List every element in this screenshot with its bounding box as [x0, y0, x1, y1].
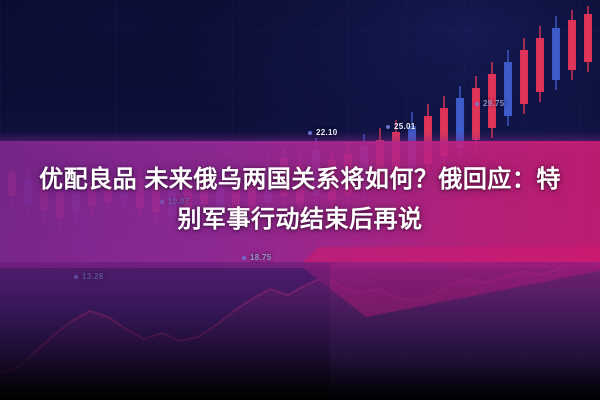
- headline-line-1: 优配良品 未来俄乌两国关系将如何？俄回应：特: [14, 160, 586, 200]
- headline-line-2: 别军事行动结束后再说: [14, 200, 586, 240]
- candle-body: [584, 14, 592, 62]
- chart-value-label: 13.28: [82, 272, 104, 281]
- chart-value-label: 29.75: [483, 99, 505, 108]
- chart-value-label: 22.10: [316, 128, 338, 137]
- candle-body: [520, 50, 528, 104]
- candle-body: [504, 62, 512, 116]
- chart-value-label: 18.75: [250, 253, 272, 262]
- candle-body: [536, 38, 544, 92]
- bottom-fade: [0, 262, 600, 400]
- chart-value-label: 25.01: [394, 122, 416, 131]
- candle-body: [552, 28, 560, 80]
- candle-body: [568, 20, 576, 70]
- news-thumbnail-image: 10.0722.1025.0129.7518.7513.28 优配良品 未来俄乌…: [0, 0, 600, 400]
- headline-text: 优配良品 未来俄乌两国关系将如何？俄回应：特 别军事行动结束后再说: [0, 160, 600, 240]
